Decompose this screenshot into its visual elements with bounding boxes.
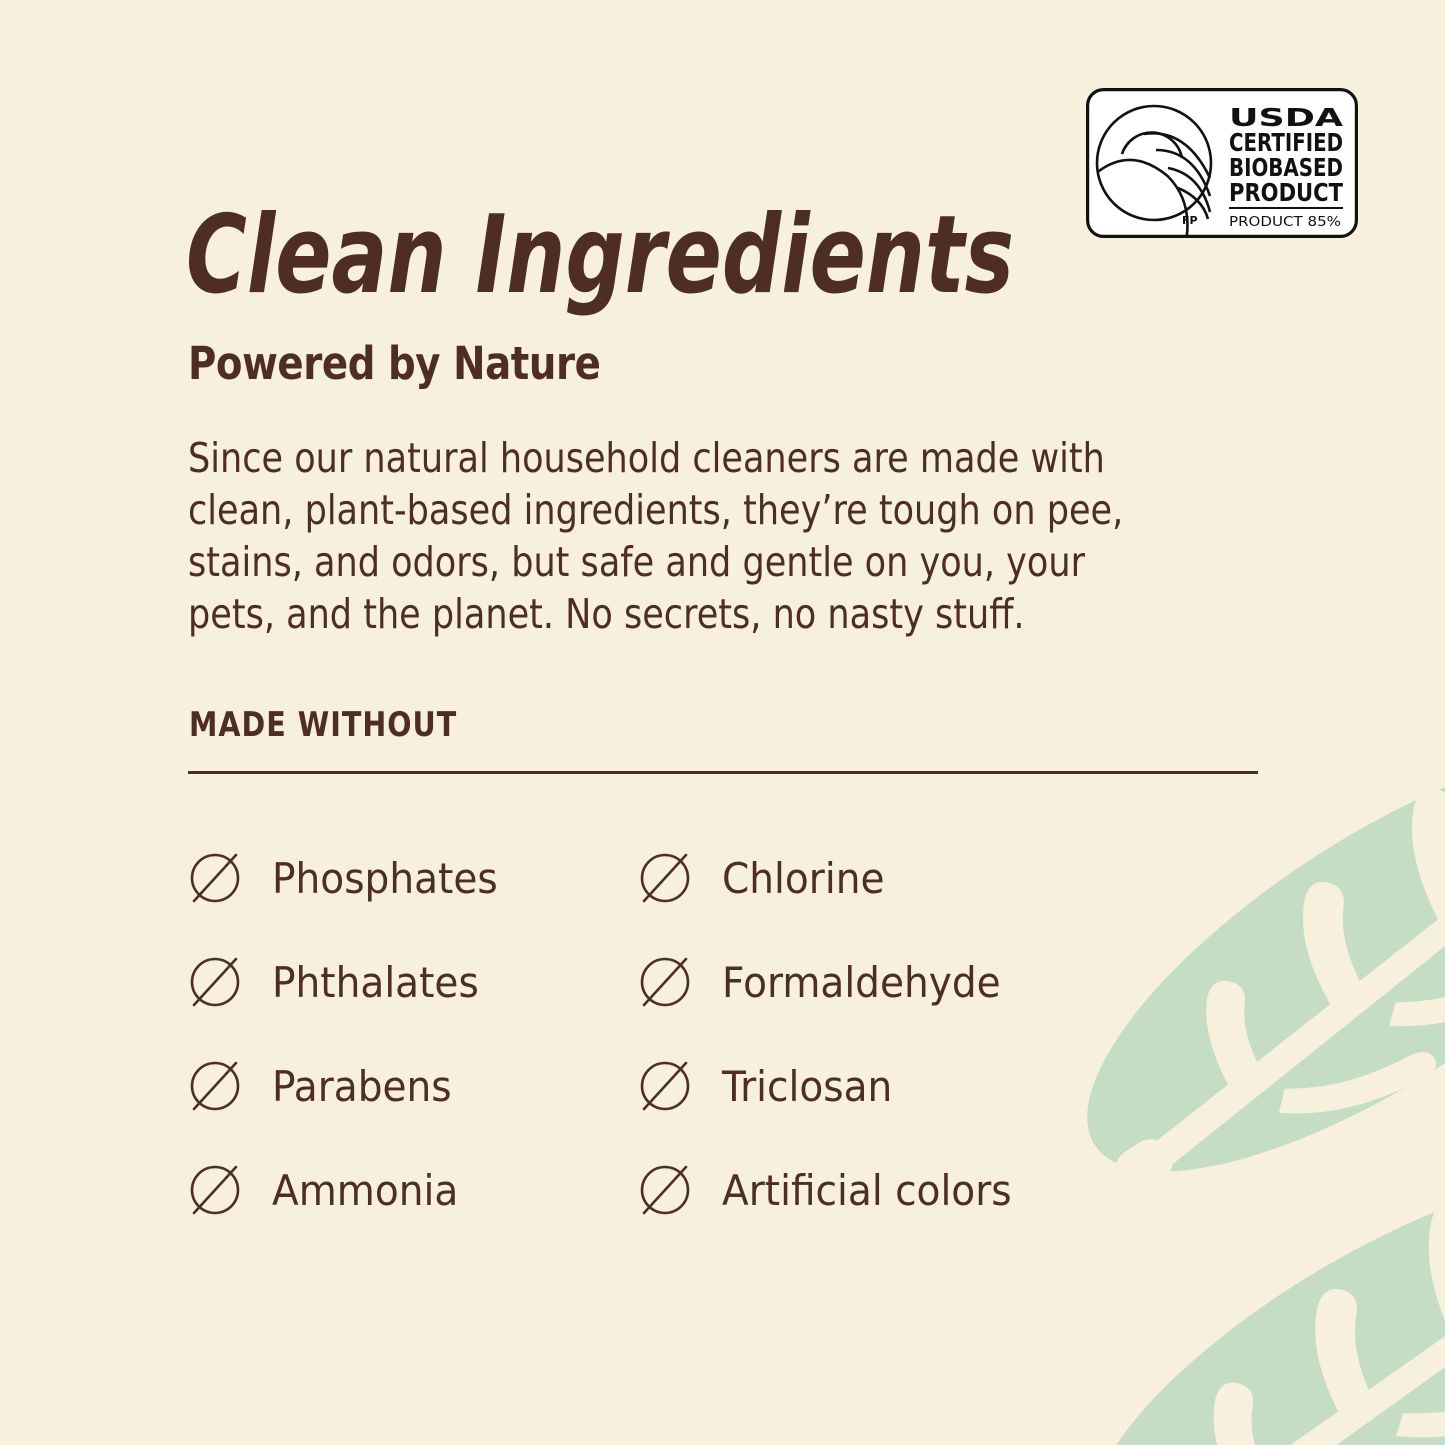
headline-block: Clean Ingredients xyxy=(186,196,1086,320)
no-slash-circle-icon xyxy=(638,1163,692,1217)
list-item: Phosphates xyxy=(188,826,638,930)
list-item-label: Phosphates xyxy=(272,854,498,903)
section-divider xyxy=(188,771,1258,774)
made-without-list: Phosphates Chlorine Phthalates xyxy=(188,826,1248,1242)
list-item: Parabens xyxy=(188,1034,638,1138)
list-item-label: Artificial colors xyxy=(722,1166,1012,1215)
list-item: Phthalates xyxy=(188,930,638,1034)
no-slash-circle-icon xyxy=(188,851,242,905)
list-item-label: Chlorine xyxy=(722,854,884,903)
list-item-label: Ammonia xyxy=(272,1166,458,1215)
list-item: Formaldehyde xyxy=(638,930,1088,1034)
page-subtitle: Powered by Nature xyxy=(188,337,600,390)
list-item-label: Parabens xyxy=(272,1062,452,1111)
headline-script: Clean Ingredients xyxy=(186,196,1086,320)
list-item: Chlorine xyxy=(638,826,1088,930)
page-title: Clean Ingredients xyxy=(186,196,1014,318)
list-item: Ammonia xyxy=(188,1138,638,1242)
made-without-heading: MADE WITHOUT xyxy=(189,705,457,745)
list-item-label: Triclosan xyxy=(722,1062,892,1111)
clean-ingredients-panel: FP USDA CERTIFIED BIOBASED PRODUCT PRODU… xyxy=(0,0,1445,1445)
list-item-label: Phthalates xyxy=(272,958,479,1007)
no-slash-circle-icon xyxy=(638,955,692,1009)
no-slash-circle-icon xyxy=(188,1163,242,1217)
no-slash-circle-icon xyxy=(188,1059,242,1113)
list-item: Triclosan xyxy=(638,1034,1088,1138)
list-item: Artificial colors xyxy=(638,1138,1088,1242)
list-item-label: Formaldehyde xyxy=(722,958,1001,1007)
intro-paragraph: Since our natural household cleaners are… xyxy=(188,432,1265,640)
no-slash-circle-icon xyxy=(638,851,692,905)
no-slash-circle-icon xyxy=(638,1059,692,1113)
no-slash-circle-icon xyxy=(188,955,242,1009)
content-column: Clean Ingredients Powered by Nature Sinc… xyxy=(0,0,1445,1445)
